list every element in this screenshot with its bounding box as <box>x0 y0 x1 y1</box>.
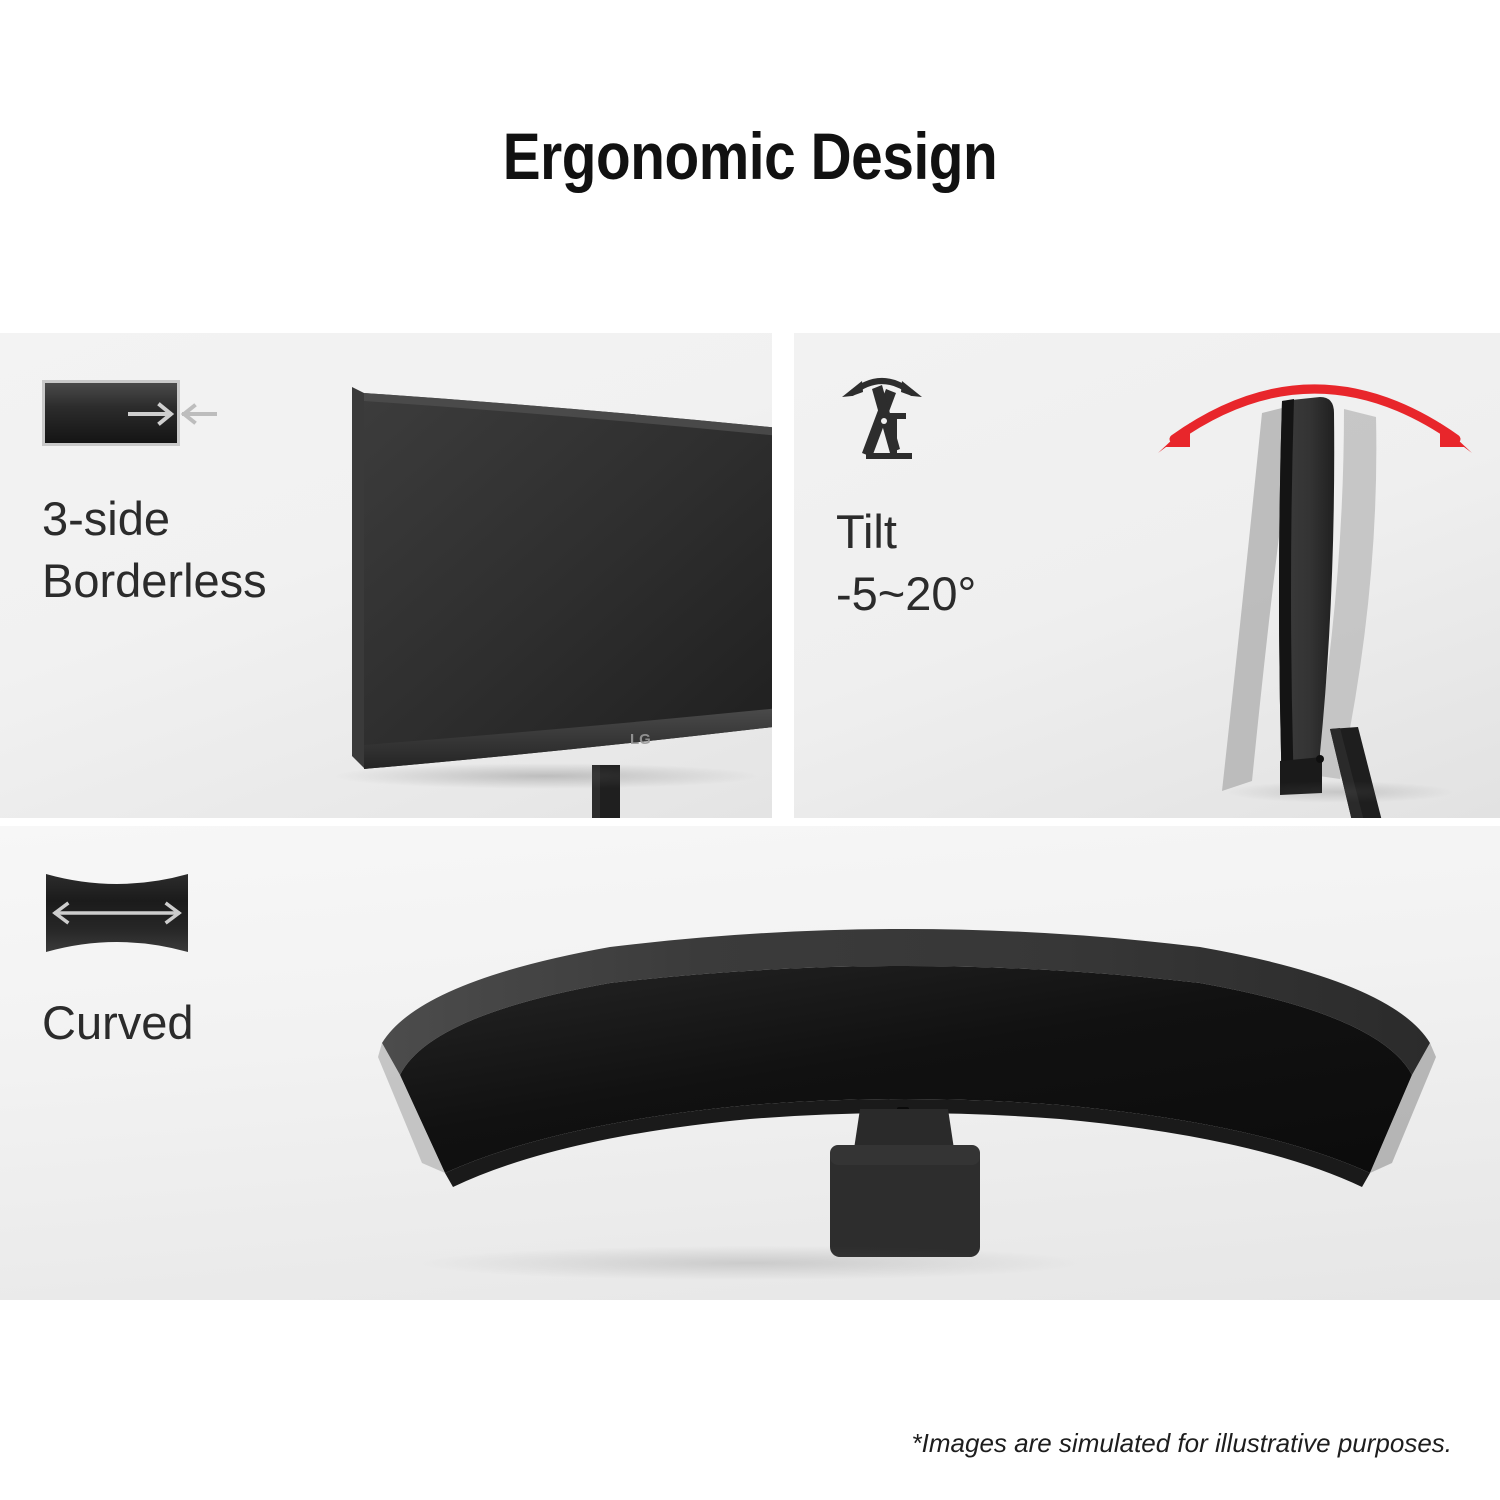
feature-tilt: Tilt -5~20° <box>836 365 976 625</box>
monitor-side-tilt-photo <box>1144 361 1484 818</box>
three-side-borderless-icon <box>42 380 217 450</box>
tilt-icon <box>836 365 926 459</box>
curved-screen-icon <box>42 872 192 952</box>
feature-label-curved: Curved <box>42 992 194 1054</box>
monitor-tilt-shadow <box>1224 781 1454 803</box>
monitor-curved-top-photo <box>360 911 1450 1271</box>
curved-monitor-shadow <box>420 1246 1080 1280</box>
feature-borderless: 3-side Borderless <box>42 380 267 612</box>
feature-label-borderless: 3-side Borderless <box>42 488 267 612</box>
panel-curved <box>0 826 1500 1300</box>
footnote-disclaimer: *Images are simulated for illustrative p… <box>912 1428 1452 1459</box>
monitor-shadow <box>330 763 760 789</box>
page-title: Ergonomic Design <box>105 118 1395 194</box>
feature-curved: Curved <box>42 872 194 1054</box>
feature-label-tilt: Tilt -5~20° <box>836 501 976 625</box>
monitor-front-angle-photo: LG <box>330 373 772 818</box>
svg-text:LG: LG <box>630 731 651 748</box>
